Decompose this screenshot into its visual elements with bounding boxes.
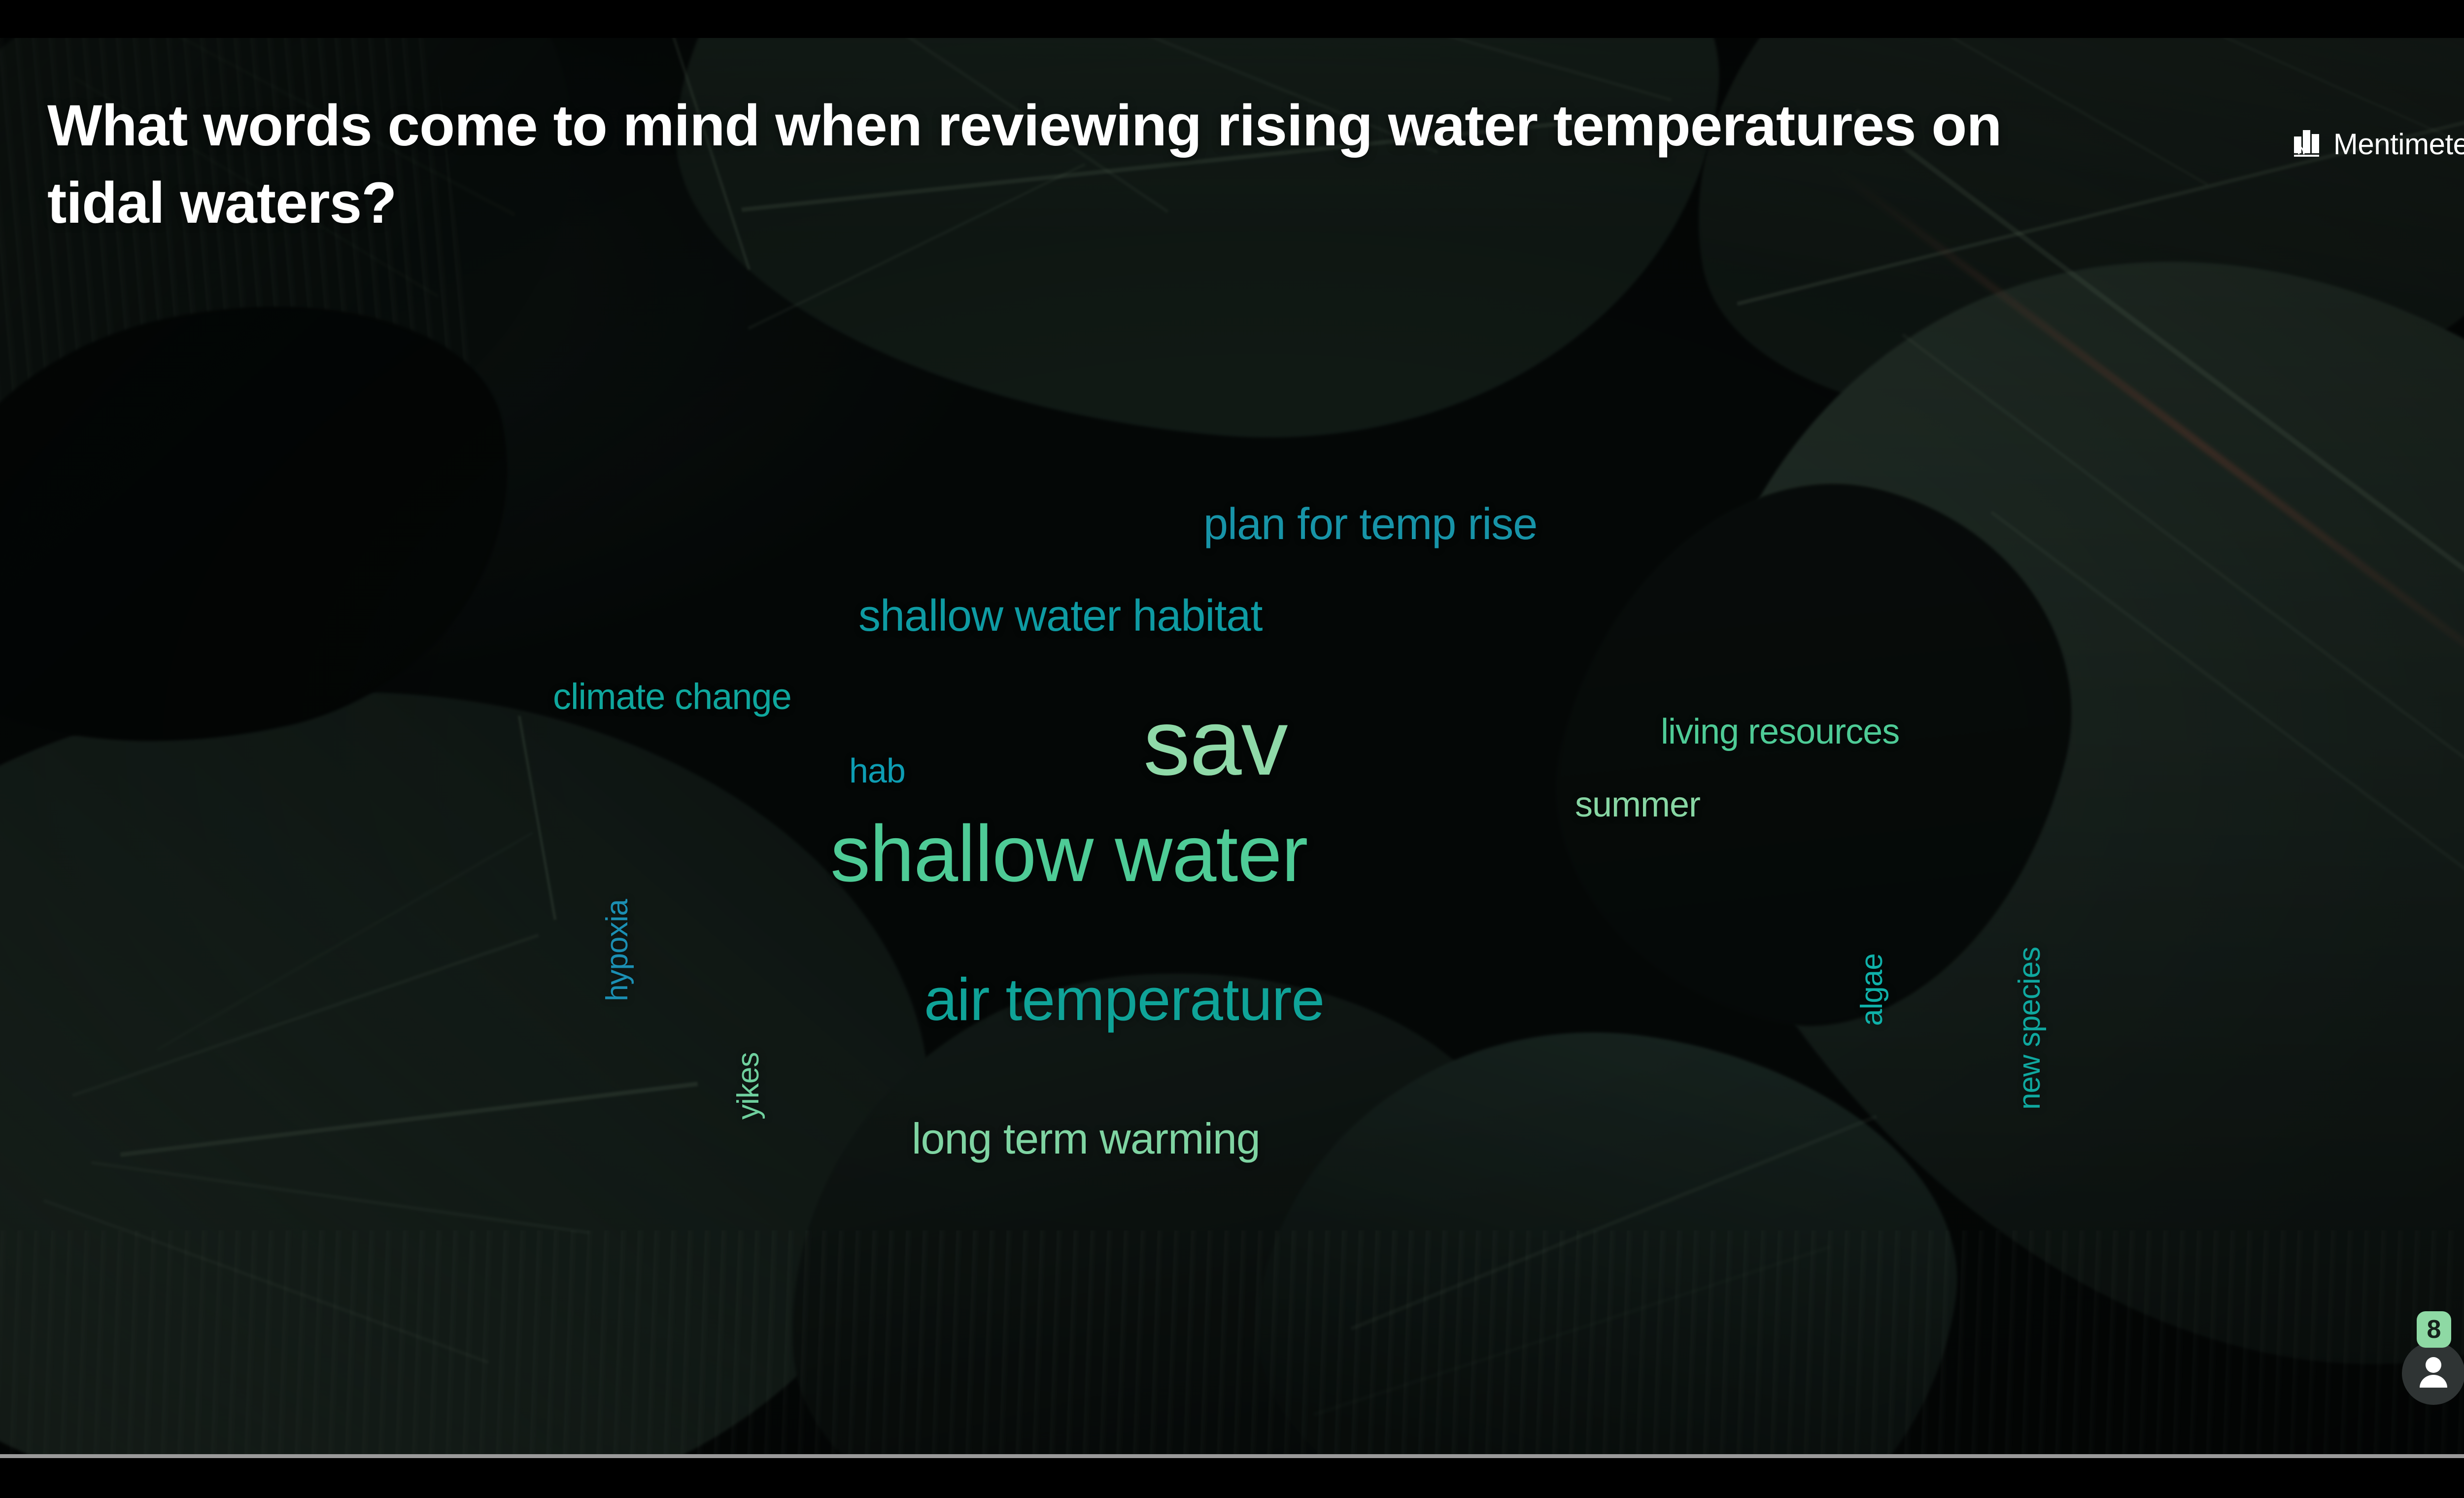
word-cloud-item[interactable]: climate change <box>553 679 791 715</box>
word-cloud-item[interactable]: shallow water <box>830 814 1307 894</box>
participant-count-badge: 8 <box>2417 1311 2451 1348</box>
participant-avatar <box>2402 1342 2464 1405</box>
word-cloud-item[interactable]: hypoxia <box>602 899 633 1001</box>
page-title: What words come to mind when reviewing r… <box>47 87 2107 242</box>
word-cloud-item[interactable]: air temperature <box>924 969 1324 1029</box>
word-cloud-item[interactable]: algae <box>1857 953 1887 1026</box>
word-cloud-item[interactable]: living resources <box>1661 714 1899 749</box>
word-cloud-item[interactable]: sav <box>1143 696 1288 789</box>
window-divider <box>0 1454 2464 1458</box>
word-cloud-item[interactable]: hab <box>849 753 905 788</box>
participant-counter[interactable]: 8 <box>2402 1311 2464 1405</box>
word-cloud: sav shallow water air temperature long t… <box>0 38 2464 1454</box>
word-cloud-item[interactable]: shallow water habitat <box>858 594 1262 638</box>
mentimeter-logo: Mentimeter <box>2294 128 2464 160</box>
word-cloud-item[interactable]: summer <box>1575 787 1700 822</box>
word-cloud-item[interactable]: plan for temp rise <box>1203 502 1537 546</box>
letterbox-top <box>0 0 2464 38</box>
mentimeter-bars-logo-icon <box>2294 128 2325 160</box>
word-cloud-item[interactable]: new species <box>2015 947 2045 1110</box>
presentation-slide: What words come to mind when reviewing r… <box>0 38 2464 1454</box>
brand-name: Mentimeter <box>2333 130 2464 159</box>
person-icon <box>2419 1356 2448 1390</box>
word-cloud-item[interactable]: yikes <box>733 1053 764 1120</box>
word-cloud-item[interactable]: long term warming <box>912 1117 1260 1160</box>
screen: What words come to mind when reviewing r… <box>0 0 2464 1498</box>
letterbox-bottom <box>0 1458 2464 1498</box>
